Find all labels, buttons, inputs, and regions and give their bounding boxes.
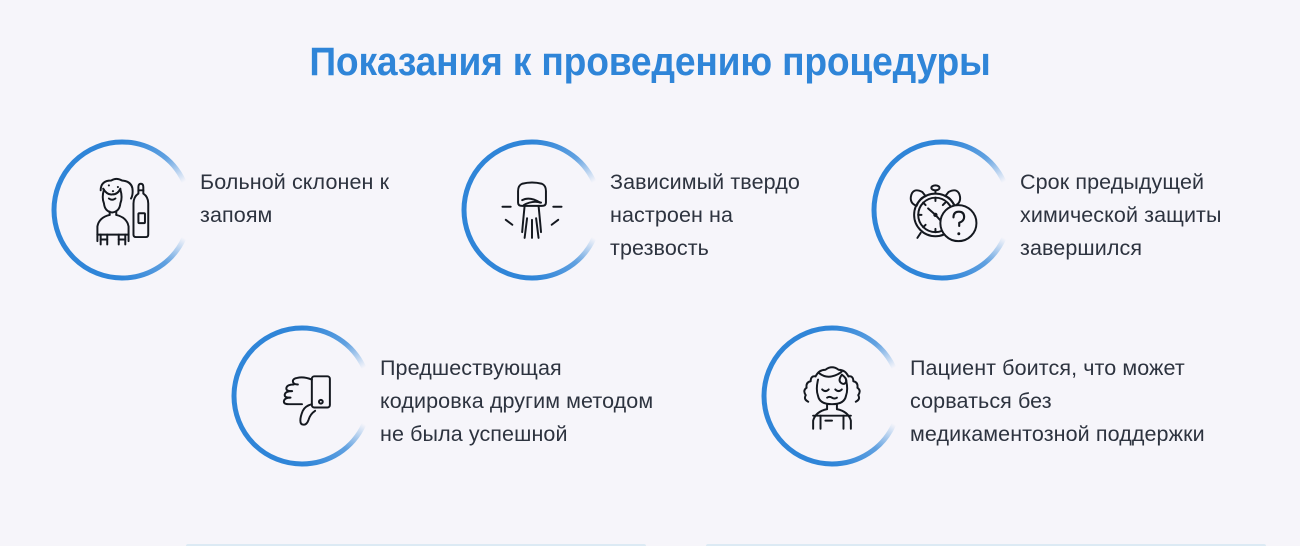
indication-text-4: Предшествующая кодировка другим методом … [380,322,653,451]
infographic-page: Показания к проведению процедуры [0,0,1300,546]
indication-item-3: Срок предыдущей химической защиты заверш… [868,136,1278,284]
indication-badge-2 [458,136,606,284]
indications-row-2: Предшествующая кодировка другим методом … [228,322,1288,470]
thumbs-down-icon [261,355,343,437]
indication-item-2: Зависимый твердо настроен на трезвость [458,136,868,284]
indication-badge-1 [48,136,196,284]
indication-item-4: Предшествующая кодировка другим методом … [228,322,758,470]
indications-row-1: Больной склонен к запоям [48,136,1278,284]
indication-badge-4 [228,322,376,470]
alarm-clock-question-mark-icon [901,169,983,251]
worried-sweating-person-icon [791,355,873,437]
page-title: Показания к проведению процедуры [46,40,1255,85]
indication-text-2: Зависимый твердо настроен на трезвость [610,136,800,265]
indication-text-3: Срок предыдущей химической защиты заверш… [1020,136,1222,265]
indication-text-1: Больной склонен к запоям [200,136,389,232]
indication-badge-5 [758,322,906,470]
determined-standing-person-icon [491,169,573,251]
indication-item-1: Больной склонен к запоям [48,136,458,284]
indication-text-5: Пациент боится, что может сорваться без … [910,322,1205,451]
indication-item-5: Пациент боится, что может сорваться без … [758,322,1288,470]
drunk-person-with-bottle-icon [81,169,163,251]
indication-badge-3 [868,136,1016,284]
